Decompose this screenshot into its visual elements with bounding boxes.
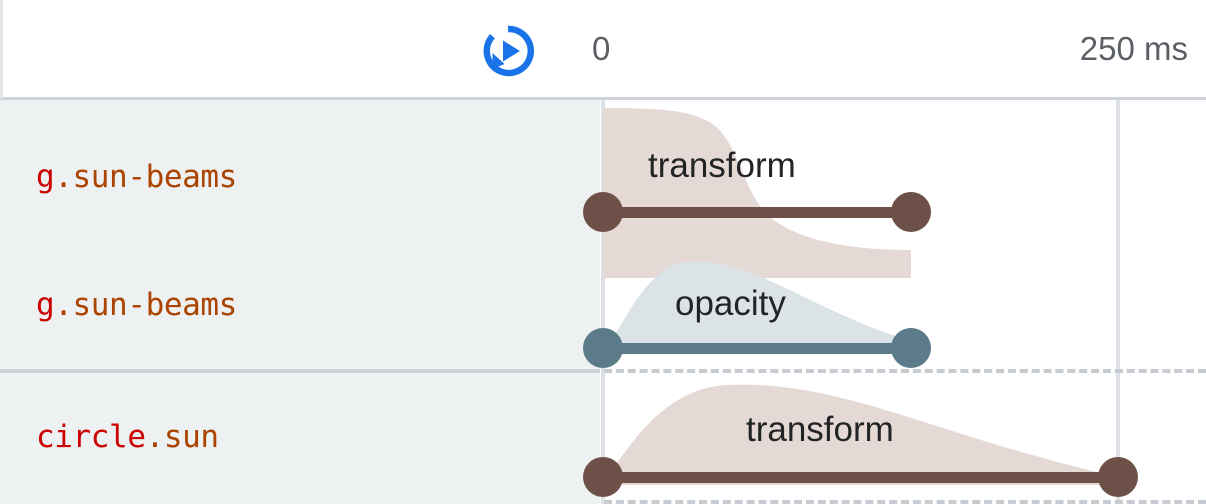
animation-selector-label-1: g.sun-beams — [36, 288, 237, 322]
animation-bar-1[interactable] — [603, 343, 911, 354]
animation-property-name-0: transform — [648, 147, 796, 185]
animation-property-name-2: transform — [746, 411, 894, 449]
selector-rest-1: .sun-beams — [54, 287, 237, 323]
selector-rest-2: .sun — [146, 419, 219, 455]
animation-end-handle-0[interactable] — [891, 192, 931, 232]
animation-end-handle-2[interactable] — [1098, 457, 1138, 497]
tick-label-end: 250 ms — [1080, 27, 1188, 71]
animation-selector-label-0: g.sun-beams — [36, 160, 237, 194]
animation-track-1[interactable]: opacity — [603, 240, 1206, 370]
replay-play-icon — [479, 23, 537, 79]
animation-start-handle-2[interactable] — [583, 457, 623, 497]
selector-tag-0: g — [36, 159, 54, 195]
easing-curve-2 — [603, 373, 1163, 504]
animation-end-handle-1[interactable] — [891, 328, 931, 368]
group-separator — [0, 369, 600, 373]
selector-tag-1: g — [36, 287, 54, 323]
animation-start-handle-1[interactable] — [583, 328, 623, 368]
animations-timeline-panel: 0 250 ms g.sun-beams g.sun-beams circle.… — [0, 0, 1206, 504]
selector-tag-2: circle — [36, 419, 146, 455]
animation-start-handle-0[interactable] — [583, 192, 623, 232]
timeline-ruler: 0 250 ms — [0, 0, 1206, 100]
replay-animation-button[interactable] — [479, 23, 537, 79]
animation-property-name-1: opacity — [675, 285, 786, 323]
animation-bar-2[interactable] — [603, 472, 1118, 483]
animation-bar-0[interactable] — [603, 207, 911, 218]
selector-rest-0: .sun-beams — [54, 159, 237, 195]
animation-selector-label-2: circle.sun — [36, 420, 219, 454]
animation-group-a — [0, 100, 600, 370]
timeline-body: g.sun-beams g.sun-beams circle.sun trans… — [0, 100, 1206, 504]
animation-track-2[interactable]: transform — [603, 373, 1206, 504]
tick-label-start: 0 — [592, 27, 610, 71]
